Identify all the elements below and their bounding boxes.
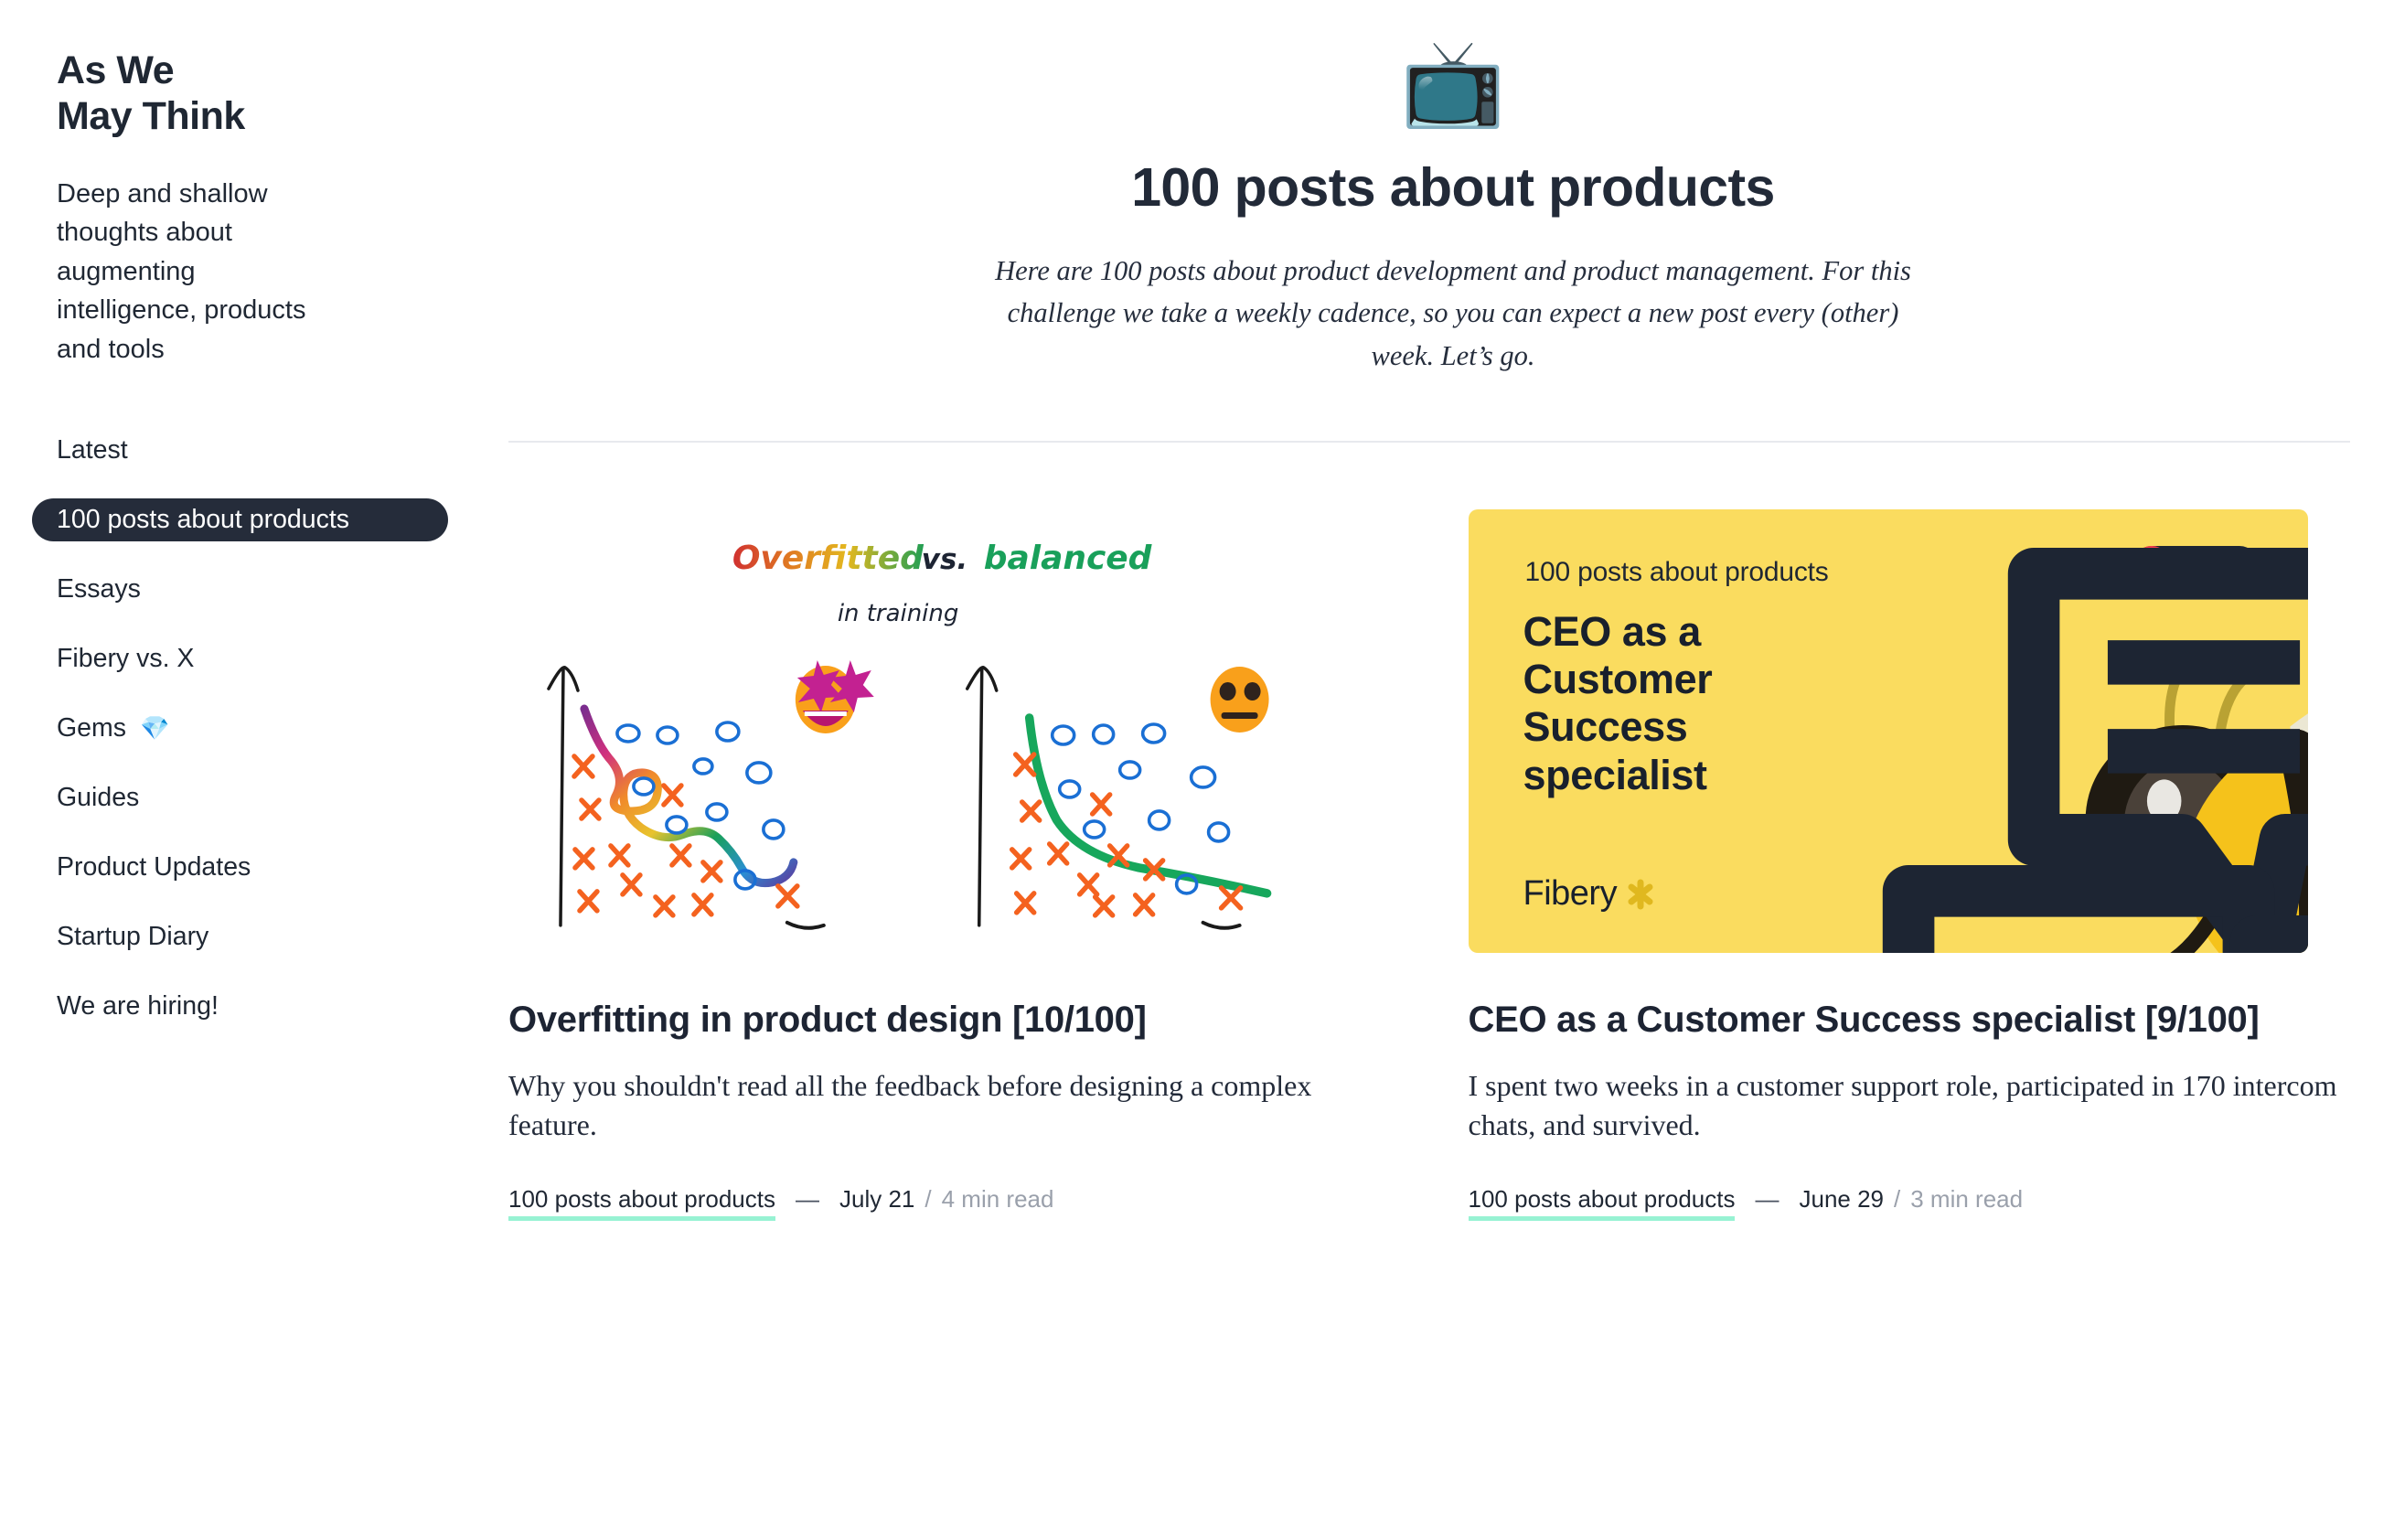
svg-text:in training: in training xyxy=(838,600,959,627)
sidebar-item-label: Product Updates xyxy=(57,854,251,881)
post-grid: Overfitted vs. balanced in training xyxy=(508,509,2350,1221)
site-title: As We May Think xyxy=(57,48,501,140)
page-subtitle: Here are 100 posts about product develop… xyxy=(978,250,1929,377)
post-meta: 100 posts about products — July 21 / 4 m… xyxy=(508,1185,1391,1221)
gem-icon: 💎 xyxy=(140,716,169,740)
post-card[interactable]: 100 posts about products CEO as a Custom… xyxy=(1469,509,2351,1221)
sidebar-item-essays[interactable]: Essays xyxy=(57,568,501,611)
star-struck-emoji xyxy=(796,660,874,733)
post-title[interactable]: Overfitting in product design [10/100] xyxy=(508,998,1391,1043)
sidebar-item-label: 100 posts about products xyxy=(57,507,349,533)
post-meta: 100 posts about products — June 29 / 3 m… xyxy=(1469,1185,2351,1221)
sidebar-item-fibery-vs-x[interactable]: Fibery vs. X xyxy=(57,637,501,680)
svg-text:Overfitted: Overfitted xyxy=(732,540,924,577)
sidebar-item-we-are-hiring[interactable]: We are hiring! xyxy=(57,985,501,1028)
post-excerpt: Why you shouldn't read all the feedback … xyxy=(508,1066,1391,1146)
post-tag[interactable]: 100 posts about products xyxy=(508,1185,775,1221)
page-title: 100 posts about products xyxy=(501,156,2394,219)
sidebar-item-latest[interactable]: Latest xyxy=(57,429,501,472)
sidebar-item-startup-diary[interactable]: Startup Diary xyxy=(57,915,501,958)
meta-dash: — xyxy=(796,1185,819,1214)
fibery-logo: Fibery xyxy=(1523,874,1657,914)
post-excerpt: I spent two weeks in a customer support … xyxy=(1469,1066,2351,1146)
sidebar-item-label: Gems xyxy=(57,715,126,742)
post-date: July 21 xyxy=(839,1185,914,1214)
television-icon: 📺 xyxy=(501,41,2394,133)
post-thumbnail-overfitting[interactable]: Overfitted vs. balanced in training xyxy=(508,509,1391,953)
sidebar-item-label: Fibery vs. X xyxy=(57,646,194,672)
svg-text:balanced: balanced xyxy=(984,540,1153,577)
post-read-time: 4 min read xyxy=(942,1185,1054,1214)
sidebar-item-guides[interactable]: Guides xyxy=(57,776,501,819)
post-tag[interactable]: 100 posts about products xyxy=(1469,1185,1736,1221)
blog-index-page: As We May Think Deep and shallow thought… xyxy=(0,0,2394,1540)
sidebar-item-label: We are hiring! xyxy=(57,993,219,1020)
post-card[interactable]: Overfitted vs. balanced in training xyxy=(508,509,1391,1221)
main-content: 📺 100 posts about products Here are 100 … xyxy=(501,0,2394,1540)
sidebar-item-gems[interactable]: Gems 💎 xyxy=(57,707,501,750)
sidebar-item-product-updates[interactable]: Product Updates xyxy=(57,846,501,889)
overfitting-illustration: Overfitted vs. balanced in training xyxy=(508,509,1391,953)
yellow-promo-card: 100 posts about products CEO as a Custom… xyxy=(1469,509,2308,953)
sidebar-item-label: Guides xyxy=(57,785,139,811)
hero-section: 📺 100 posts about products Here are 100 … xyxy=(501,41,2394,377)
chat-bubble-icon xyxy=(2241,889,2308,953)
fibery-mark-icon xyxy=(1625,879,1656,910)
sidebar-item-label: Startup Diary xyxy=(57,924,208,950)
sidebar-nav: Latest 100 posts about products Essays F… xyxy=(57,429,501,1028)
site-description: Deep and shallow thoughts about augmenti… xyxy=(57,175,331,369)
post-date: June 29 xyxy=(1799,1185,1884,1214)
sidebar: As We May Think Deep and shallow thought… xyxy=(0,0,501,1540)
meta-separator: / xyxy=(1894,1185,1900,1214)
section-divider xyxy=(508,441,2350,443)
sidebar-item-label: Essays xyxy=(57,576,141,603)
meta-dash: — xyxy=(1755,1185,1779,1214)
fibery-logo-text: Fibery xyxy=(1523,874,1618,914)
neutral-face-emoji xyxy=(1211,667,1269,733)
svg-text:vs.: vs. xyxy=(922,543,967,576)
meta-separator: / xyxy=(924,1185,931,1214)
post-title[interactable]: CEO as a Customer Success specialist [9/… xyxy=(1469,998,2351,1043)
sidebar-item-label: Latest xyxy=(57,437,128,464)
post-read-time: 3 min read xyxy=(1910,1185,2023,1214)
sidebar-item-100-posts-about-products[interactable]: 100 posts about products xyxy=(32,498,448,541)
post-thumbnail-ceo-customer-success[interactable]: 100 posts about products CEO as a Custom… xyxy=(1469,509,2351,953)
